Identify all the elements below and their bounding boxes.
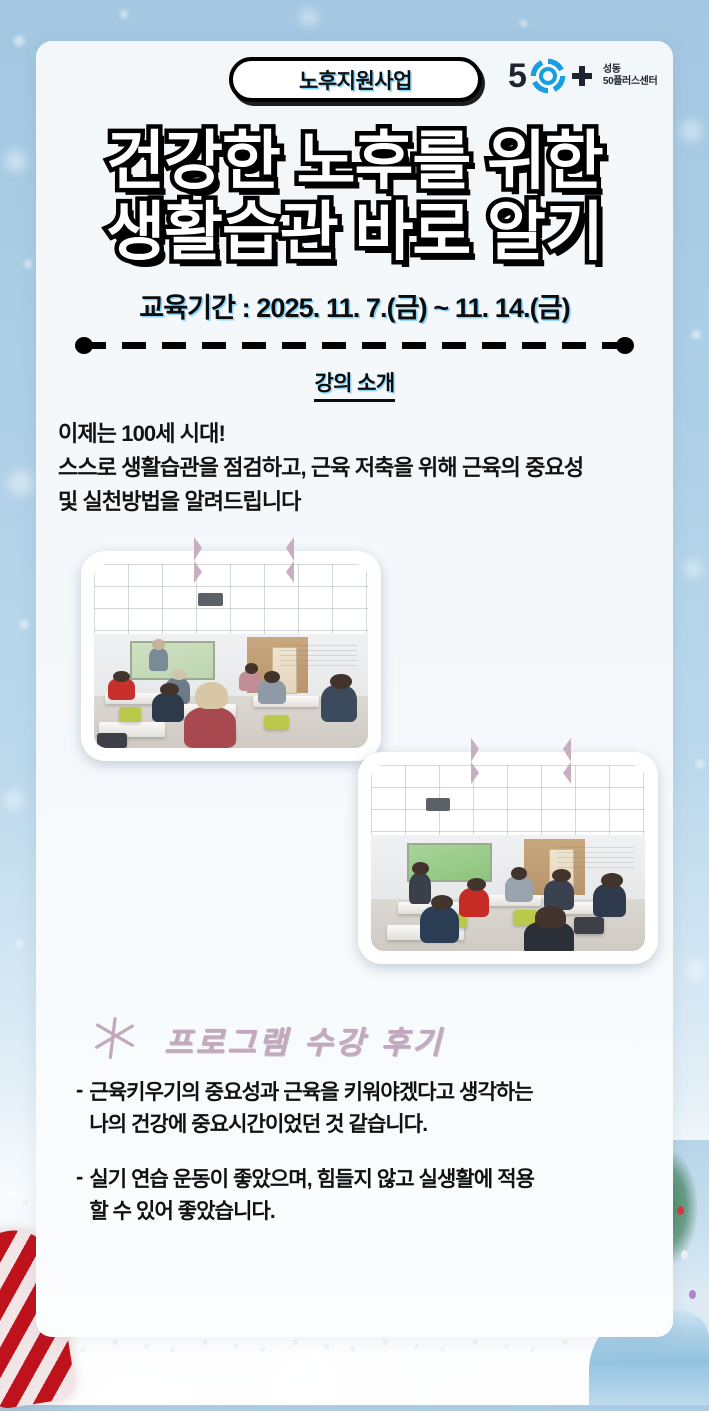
snowflake-icon <box>24 260 32 268</box>
person <box>420 906 458 943</box>
reviews-list: - 근육키우기의 중요성과 근육을 키워야겠다고 생각하는 나의 건강에 중요시… <box>76 1077 673 1229</box>
person <box>505 876 532 902</box>
poster-header: 노후지원사업 5 성동 50플러스센터 <box>36 41 673 107</box>
wall-lettering <box>280 645 357 667</box>
person <box>258 680 285 704</box>
snowflake-icon <box>5 150 27 172</box>
review-line: 실기 연습 운동이 좋았으며, 힘들지 않고 실생활에 적용 <box>89 1164 534 1197</box>
intro-line-3: 및 실천방법을 알려드립니다 <box>58 485 673 519</box>
divider-dot-right <box>616 337 634 354</box>
review-item: - 실기 연습 운동이 좋았으며, 힘들지 않고 실생활에 적용 할 수 있어 … <box>76 1164 673 1229</box>
person <box>593 884 626 917</box>
snowflake-icon <box>4 790 24 810</box>
review-body: 실기 연습 운동이 좋았으며, 힘들지 않고 실생활에 적용 할 수 있어 좋았… <box>89 1164 534 1229</box>
class-photo-2-image <box>371 765 645 951</box>
snowflake-icon <box>520 20 527 27</box>
logo-ring-inner <box>539 67 557 85</box>
ornament-icon <box>677 1206 684 1215</box>
title-line-1: 건강한 노후를 위한 <box>36 129 673 194</box>
chair <box>97 733 127 748</box>
snowflake-icon <box>696 760 704 768</box>
classroom-illustration-1 <box>94 564 368 748</box>
program-category-badge: 노후지원사업 <box>229 57 482 102</box>
ceiling <box>371 765 645 839</box>
person-head <box>552 869 571 882</box>
program-category-label: 노후지원사업 <box>299 65 412 95</box>
snowflake-icon <box>20 620 29 629</box>
divider-line <box>82 342 627 349</box>
logo-text: 성동 50플러스센터 <box>603 64 657 89</box>
star-icon <box>92 1015 138 1061</box>
review-line: 할 수 있어 좋았습니다. <box>89 1196 534 1229</box>
snowflake-icon <box>692 330 701 339</box>
logo-plus-icon <box>572 66 592 86</box>
person <box>321 685 357 722</box>
chair <box>574 917 604 934</box>
review-marker: - <box>76 1077 83 1142</box>
review-line: 나의 건강에 중요시간이었던 것 같습니다. <box>89 1109 532 1142</box>
wall-lettering <box>557 847 634 869</box>
review-body: 근육키우기의 중요성과 근육을 키워야겠다고 생각하는 나의 건강에 중요시간이… <box>89 1077 532 1142</box>
dashed-divider <box>64 337 645 353</box>
reviews-heading: 프로그램 수강 후기 <box>36 1011 673 1071</box>
logo-text-line2: 50플러스센터 <box>603 76 657 89</box>
logo-ring-icon <box>530 58 566 94</box>
snowflake-icon <box>300 8 318 26</box>
review-marker: - <box>76 1164 83 1229</box>
organization-logo: 5 성동 50플러스센터 <box>508 58 657 94</box>
class-photo-2 <box>358 752 658 964</box>
chair <box>119 707 141 722</box>
person-head <box>113 671 129 682</box>
person-head <box>601 873 623 888</box>
person <box>152 693 185 722</box>
ceiling <box>94 564 368 638</box>
instructor-head <box>412 862 428 875</box>
schedule-text: 교육기간 : 2025. 11. 7.(금) ~ 11. 14.(금) <box>36 286 673 325</box>
intro-heading-label: 강의 소개 <box>314 372 394 402</box>
ornament-icon <box>681 1250 688 1259</box>
chair <box>264 715 289 730</box>
snowflake-icon <box>120 10 128 18</box>
projector <box>198 593 223 606</box>
snowflake-icon <box>8 470 34 496</box>
person <box>459 888 489 918</box>
person-head <box>431 895 453 910</box>
review-item: - 근육키우기의 중요성과 근육을 키워야겠다고 생각하는 나의 건강에 중요시… <box>76 1077 673 1142</box>
photo-gallery <box>36 533 673 1003</box>
person-head <box>171 669 187 680</box>
snowflake-icon <box>684 560 702 578</box>
review-line: 근육키우기의 중요성과 근육을 키워야겠다고 생각하는 <box>89 1077 532 1110</box>
logo-text-line1: 성동 <box>603 64 657 77</box>
ornament-icon <box>689 1290 696 1299</box>
class-photo-1-image <box>94 564 368 748</box>
poster-card: 노후지원사업 5 성동 50플러스센터 건강한 노후를 위한 생활습관 바로 알… <box>36 41 673 1337</box>
snowflake-icon <box>14 36 24 46</box>
reviews-heading-label: 프로그램 수강 후기 <box>164 1017 444 1062</box>
intro-line-2: 스스로 생활습관을 점검하고, 근육 저축을 위해 근육의 중요성 <box>58 451 673 485</box>
person <box>149 648 168 670</box>
person-head <box>195 682 228 710</box>
person <box>184 707 236 747</box>
snowflake-icon <box>680 120 702 142</box>
snowflake-icon <box>686 960 706 980</box>
instructor <box>409 873 431 905</box>
poster-title: 건강한 노후를 위한 생활습관 바로 알기 <box>36 129 673 266</box>
title-line-2: 생활습관 바로 알기 <box>36 200 673 265</box>
class-photo-1 <box>81 551 381 761</box>
person-head <box>535 906 565 928</box>
logo-five-glyph: 5 <box>508 59 525 93</box>
intro-heading: 강의 소개 <box>36 367 673 397</box>
intro-line-1: 이제는 100세 시대! <box>58 417 673 451</box>
intro-body: 이제는 100세 시대! 스스로 생활습관을 점검하고, 근육 저축을 위해 근… <box>58 417 673 519</box>
projector <box>426 798 451 811</box>
snowflake-icon <box>16 940 23 947</box>
classroom-illustration-2 <box>371 765 645 951</box>
person-head <box>330 674 352 689</box>
